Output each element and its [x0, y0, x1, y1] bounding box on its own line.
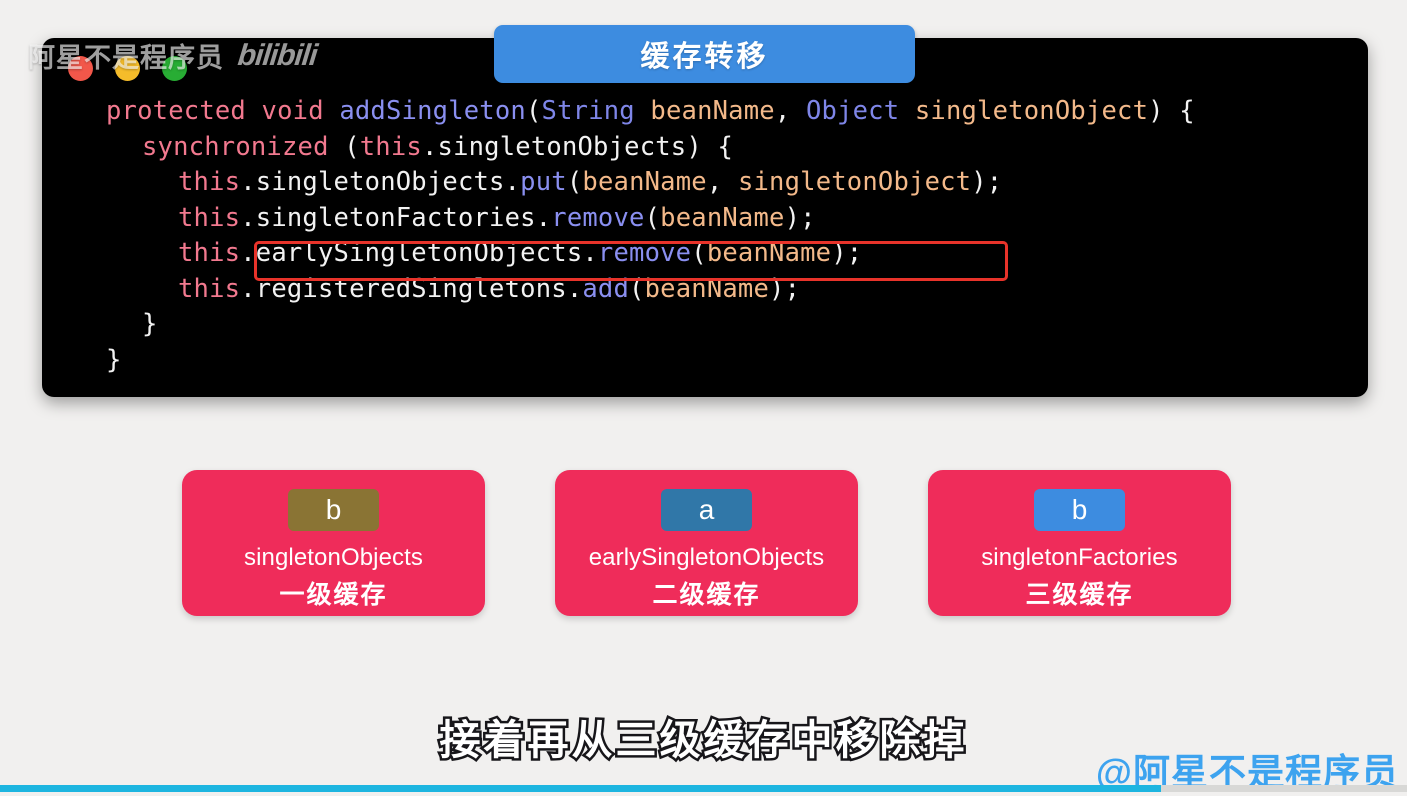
code-token: remove — [551, 203, 644, 233]
maximize-dot-icon[interactable] — [162, 56, 187, 81]
window-controls — [68, 56, 187, 81]
cache-card-title: singletonFactories — [981, 544, 1178, 572]
code-line: this.singletonFactories.remove(beanName)… — [42, 201, 1368, 237]
code-token: } — [106, 345, 122, 375]
code-token: this — [360, 132, 422, 162]
code-token: beanName — [582, 167, 706, 197]
video-progress-fill — [0, 785, 1161, 792]
code-line: this.singletonObjects.put(beanName, sing… — [42, 165, 1368, 201]
cache-card-singleton-factories[interactable]: b singletonFactories 三级缓存 — [928, 470, 1231, 616]
cache-card-early-singleton-objects[interactable]: a earlySingletonObjects 二级缓存 — [555, 470, 858, 616]
code-token: singletonObject — [738, 167, 971, 197]
code-token: .registeredSingletons. — [240, 274, 582, 304]
code-token: this — [178, 274, 240, 304]
cache-badge: b — [1034, 489, 1125, 531]
code-token: , — [707, 167, 738, 197]
code-token: void — [262, 96, 324, 126]
code-token: ( — [691, 238, 707, 268]
code-token: ); — [785, 203, 816, 233]
code-token: addSingleton — [339, 96, 526, 126]
code-token: , — [775, 96, 806, 126]
code-token: this — [178, 167, 240, 197]
code-token: singletonObject — [915, 96, 1148, 126]
code-token: .earlySingletonObjects. — [240, 238, 598, 268]
code-token: } — [142, 309, 158, 339]
code-token: Object — [806, 96, 899, 126]
cache-badge: b — [288, 489, 379, 531]
code-token: beanName — [660, 203, 784, 233]
code-token: beanName — [645, 274, 769, 304]
code-token: ( — [329, 132, 360, 162]
code-line: this.registeredSingletons.add(beanName); — [42, 272, 1368, 308]
video-frame: 阿星不是程序员 bilibili protected void addSingl… — [0, 0, 1407, 792]
code-line: } — [42, 307, 1368, 343]
code-token: .singletonFactories. — [240, 203, 551, 233]
code-token: this — [178, 203, 240, 233]
cache-card-title: earlySingletonObjects — [589, 544, 825, 572]
code-token: ) { — [1148, 96, 1195, 126]
code-token — [324, 96, 340, 126]
video-progress-bar[interactable] — [0, 785, 1407, 792]
code-token: ( — [526, 96, 542, 126]
code-token: beanName — [707, 238, 831, 268]
code-block: protected void addSingleton(String beanN… — [42, 82, 1368, 378]
cache-card-singleton-objects[interactable]: b singletonObjects 一级缓存 — [182, 470, 485, 616]
cache-card-subtitle: 一级缓存 — [279, 575, 387, 611]
cache-card-title: singletonObjects — [244, 544, 423, 572]
code-token: ( — [645, 203, 661, 233]
code-token: beanName — [650, 96, 774, 126]
code-token: synchronized — [142, 132, 329, 162]
code-token: add — [582, 274, 629, 304]
code-window: protected void addSingleton(String beanN… — [42, 38, 1368, 397]
code-token: .singletonObjects. — [240, 167, 520, 197]
section-title-label: 缓存转移 — [640, 33, 768, 75]
code-line: this.earlySingletonObjects.remove(beanNa… — [42, 236, 1368, 272]
code-token: ); — [769, 274, 800, 304]
code-token: ); — [831, 238, 862, 268]
section-title-badge: 缓存转移 — [494, 25, 915, 83]
code-token: ( — [629, 274, 645, 304]
code-token — [899, 96, 915, 126]
close-dot-icon[interactable] — [68, 56, 93, 81]
minimize-dot-icon[interactable] — [115, 56, 140, 81]
code-line: } — [42, 343, 1368, 379]
code-token: put — [520, 167, 567, 197]
cache-card-subtitle: 二级缓存 — [652, 575, 760, 611]
code-token — [246, 96, 262, 126]
cache-card-list: b singletonObjects 一级缓存 a earlySingleton… — [0, 470, 1407, 618]
code-token — [635, 96, 651, 126]
code-token: ( — [567, 167, 583, 197]
code-token: String — [542, 96, 635, 126]
code-token: ); — [971, 167, 1002, 197]
code-token: remove — [598, 238, 691, 268]
code-token: .singletonObjects) { — [422, 132, 733, 162]
cache-badge: a — [661, 489, 752, 531]
code-line: protected void addSingleton(String beanN… — [42, 94, 1368, 130]
code-token: protected — [106, 96, 246, 126]
code-line: synchronized (this.singletonObjects) { — [42, 130, 1368, 166]
code-token: this — [178, 238, 240, 268]
cache-card-subtitle: 三级缓存 — [1025, 575, 1133, 611]
